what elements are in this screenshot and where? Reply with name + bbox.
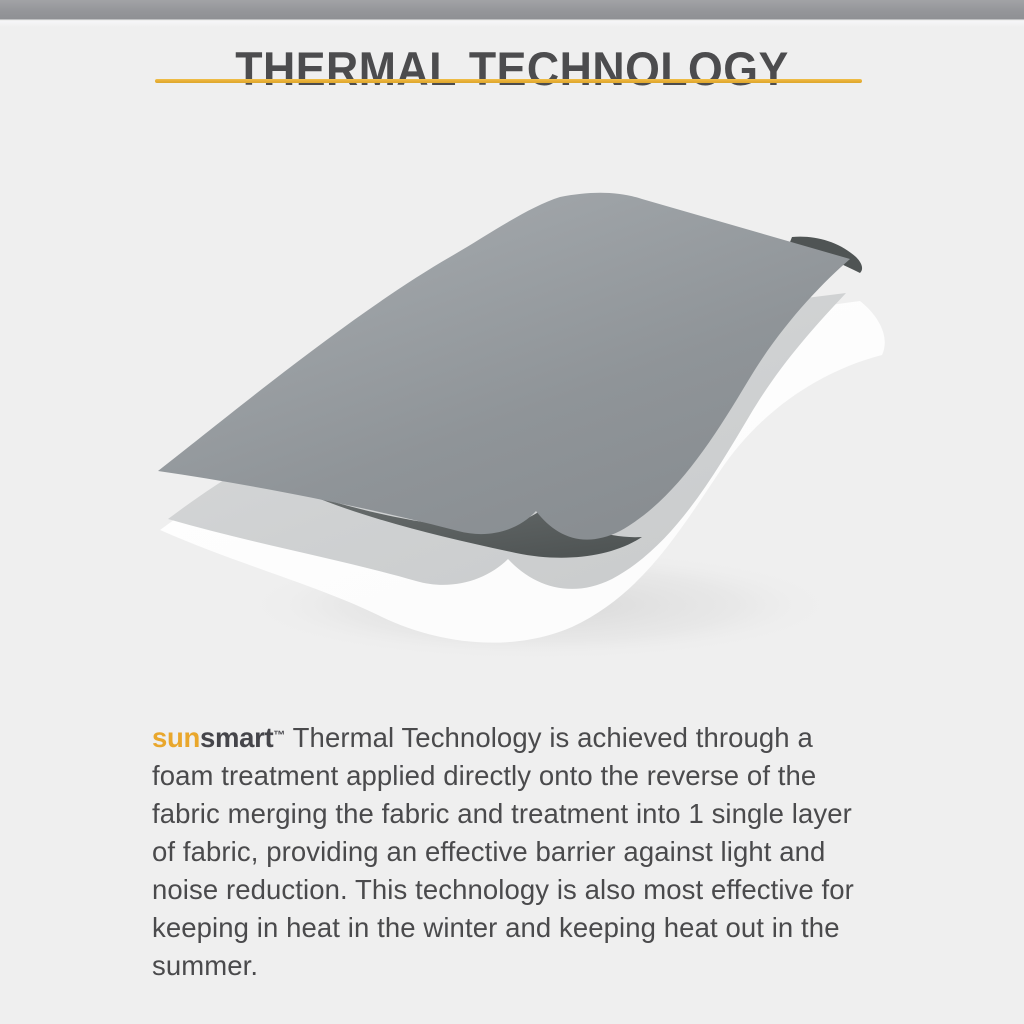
page-title: THERMAL TECHNOLOGY [26, 40, 999, 98]
title-divider [155, 79, 862, 83]
trademark-icon: ™ [273, 728, 285, 742]
sunsmart-wordmark: sunsmart™ [152, 722, 285, 753]
page-root: THERMAL TECHNOLOGY [0, 0, 1024, 1024]
window-chrome-bar [0, 0, 1024, 20]
layered-fabric-illustration [120, 175, 920, 665]
header: THERMAL TECHNOLOGY [0, 40, 1024, 98]
fabric-top-sheet [158, 193, 850, 540]
brand-sun-text: sun [152, 722, 200, 753]
body-paragraph: sunsmart™ Thermal Technology is achieved… [152, 716, 882, 985]
brand-smart-text: smart [200, 722, 273, 753]
window-chrome-shadow [0, 21, 1024, 27]
body-paragraph-text: Thermal Technology is achieved through a… [152, 722, 854, 981]
fabric-swatch-icon [120, 175, 920, 665]
